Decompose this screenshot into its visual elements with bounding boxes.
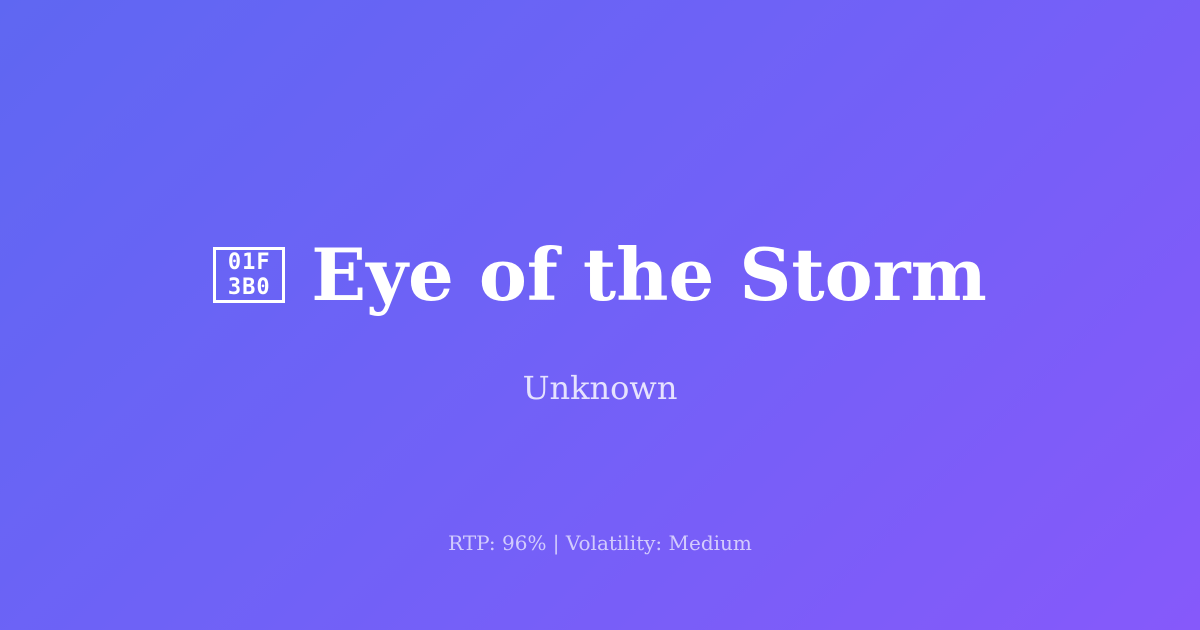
game-stats: RTP: 96% | Volatility: Medium: [0, 530, 1200, 556]
game-preview-card: 01F 3B0 Eye of the Storm Unknown RTP: 96…: [0, 0, 1200, 630]
title-row: 01F 3B0 Eye of the Storm: [0, 0, 1200, 590]
provider-label: Unknown: [0, 368, 1200, 408]
slot-machine-icon: 01F 3B0: [213, 247, 285, 303]
tofu-codepoint-bottom: 3B0: [228, 275, 271, 300]
game-title: Eye of the Storm: [311, 239, 987, 311]
tofu-codepoint-top: 01F: [228, 250, 271, 275]
